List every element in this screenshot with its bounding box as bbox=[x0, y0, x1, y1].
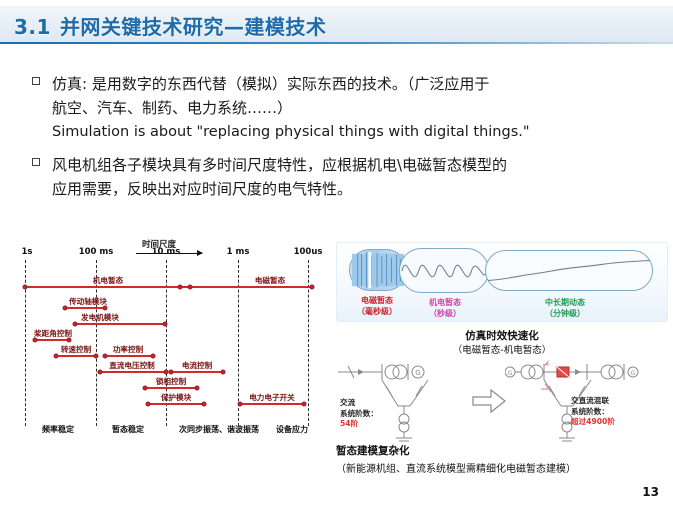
timescale-endpoint-dot bbox=[98, 370, 103, 375]
timescale-tick-label: 10 ms bbox=[152, 247, 181, 257]
pill-label-name: 机电暂态 bbox=[429, 298, 461, 307]
page-title: 3.1并网关键技术研究—建模技术 bbox=[14, 11, 326, 40]
timescale-tick-label: 1 ms bbox=[227, 247, 250, 257]
acdc-caption-line2: 系统阶数： bbox=[571, 407, 609, 416]
em-waveform-icon bbox=[350, 250, 406, 290]
bullet-line: 应用需要，反映出对应时间尺度的电气特性。 bbox=[52, 177, 650, 201]
ac-caption-line2: 系统阶数： bbox=[340, 409, 378, 418]
bullet-list: 仿真: 是用数字的东西代替（模拟）实际东西的技术。（广泛应用于 航空、汽车、制药… bbox=[30, 72, 650, 210]
timescale-band bbox=[171, 371, 223, 373]
timescale-endpoint-dot bbox=[23, 285, 28, 290]
timescale-tick-label: 100 ms bbox=[79, 247, 114, 257]
pill-label-name: 中长期动态 bbox=[545, 298, 585, 307]
acdc-caption-line1: 交直流混联 bbox=[571, 396, 609, 405]
ac-dc-system-order-caption: 交直流混联 系统阶数： 超过4900阶 bbox=[571, 396, 615, 428]
bullet-item: 风电机组各子模块具有多时间尺度特性，应根据机电\电磁暂态模型的 应用需要，反映出… bbox=[30, 153, 650, 201]
timescale-band-label: 锁相控制 bbox=[156, 376, 186, 387]
timescale-main-span bbox=[25, 286, 312, 288]
pill-label-electromagnetic: 电磁暂态 （毫秒级） bbox=[357, 295, 397, 317]
timescale-band bbox=[75, 323, 165, 325]
timescale-endpoint-dot bbox=[63, 306, 68, 311]
timescale-band bbox=[145, 387, 197, 389]
pill-label-electromechanical: 机电暂态 （秒级） bbox=[429, 297, 461, 319]
timescale-band-label: 桨距角控制 bbox=[34, 328, 72, 339]
figure-area: 时间尺度 1s 100 ms 10 ms 1 ms 100us 机电暂态 电磁暂… bbox=[0, 238, 673, 488]
ac-system-order-caption: 交流 系统阶数： 54阶 bbox=[340, 398, 378, 430]
page-number: 13 bbox=[642, 485, 659, 499]
square-bullet-icon bbox=[32, 158, 40, 166]
timescale-endpoint-dot bbox=[310, 285, 315, 290]
bullet-line: 风电机组各子模块具有多时间尺度特性，应根据机电\电磁暂态模型的 bbox=[52, 153, 650, 177]
timescale-endpoint-dot bbox=[103, 354, 108, 359]
timescale-footer-label: 次同步振荡、谐波振荡 bbox=[179, 424, 259, 435]
timescale-endpoint-dot bbox=[169, 370, 174, 375]
timescale-endpoint-dot bbox=[73, 322, 78, 327]
bullet-line: 仿真: 是用数字的东西代替（模拟）实际东西的技术。（广泛应用于 bbox=[52, 72, 650, 96]
timescale-endpoint-dot bbox=[302, 402, 307, 407]
timescale-endpoint-dot bbox=[178, 285, 183, 290]
pill-label-sub: （毫秒级） bbox=[357, 307, 397, 316]
timescale-endpoint-dot bbox=[188, 285, 193, 290]
circuit-title: 仿真时效快速化 bbox=[465, 328, 539, 343]
timescale-band-label: 功率控制 bbox=[113, 344, 143, 355]
page-title-number: 3.1 bbox=[14, 15, 51, 39]
page-title-text: 并网关键技术研究—建模技术 bbox=[60, 15, 327, 39]
svg-text:G: G bbox=[415, 369, 420, 377]
timescale-band-label: 电力电子开关 bbox=[249, 392, 295, 403]
timescale-band bbox=[65, 307, 105, 309]
timescale-tick-label: 1s bbox=[22, 247, 33, 257]
bullet-line: Simulation is about "replacing physical … bbox=[52, 120, 650, 144]
pill-label-sub: （分钟级） bbox=[545, 309, 585, 318]
timescale-band-label: 发电机模块 bbox=[81, 312, 119, 323]
slow-ramp-waveform-icon bbox=[486, 251, 652, 290]
timescale-band-label: 直流电压控制 bbox=[109, 360, 155, 371]
timescale-footer-label: 频率稳定 bbox=[42, 424, 74, 435]
timescale-band bbox=[35, 339, 69, 341]
timescale-chart: 时间尺度 1s 100 ms 10 ms 1 ms 100us 机电暂态 电磁暂… bbox=[8, 238, 328, 428]
bullet-line: 航空、汽车、制药、电力系统……） bbox=[52, 96, 650, 120]
timescale-footer-label: 设备应力 bbox=[276, 424, 308, 435]
timescale-endpoint-dot bbox=[195, 386, 200, 391]
timescale-band bbox=[148, 403, 204, 405]
timescale-top-annotation: 机电暂态 bbox=[93, 275, 123, 286]
timescale-endpoint-dot bbox=[151, 354, 156, 359]
svg-text:G: G bbox=[631, 370, 636, 377]
ac-caption-line1: 交流 bbox=[340, 398, 355, 407]
acdc-caption-value: 超过4900阶 bbox=[571, 417, 615, 426]
timescale-band bbox=[105, 355, 153, 357]
timescale-band-label: 传动轴模块 bbox=[69, 296, 107, 307]
slide-header-rule bbox=[0, 42, 673, 44]
timescale-endpoint-dot bbox=[143, 386, 148, 391]
timescale-endpoint-dot bbox=[202, 402, 207, 407]
svg-text:G: G bbox=[508, 370, 513, 377]
pill-label-name: 电磁暂态 bbox=[361, 296, 393, 305]
timescale-endpoint-dot bbox=[163, 322, 168, 327]
timescale-pill-panel: 电磁暂态 （毫秒级） 机电暂态 （秒级） 中长期动态 （分钟级） bbox=[336, 242, 668, 322]
timescale-endpoint-dot bbox=[146, 402, 151, 407]
timescale-band-label: 转速控制 bbox=[61, 344, 91, 355]
timescale-endpoint-dot bbox=[221, 370, 226, 375]
timescale-endpoint-dot bbox=[94, 354, 99, 359]
timescale-endpoint-dot bbox=[54, 354, 59, 359]
bullet-item: 仿真: 是用数字的东西代替（模拟）实际东西的技术。（广泛应用于 航空、汽车、制药… bbox=[30, 72, 650, 144]
pill-label-long-term: 中长期动态 （分钟级） bbox=[545, 297, 585, 319]
timescale-band-label: 保护模块 bbox=[161, 392, 191, 403]
timescale-endpoint-dot bbox=[238, 402, 243, 407]
ac-caption-value: 54阶 bbox=[340, 419, 358, 428]
square-bullet-icon bbox=[32, 77, 40, 85]
transform-arrow-icon bbox=[472, 388, 506, 414]
timescale-tick-label: 100us bbox=[294, 247, 323, 257]
timescale-band-label: 电流控制 bbox=[182, 360, 212, 371]
timescale-footer-label: 暂态稳定 bbox=[112, 424, 144, 435]
timescale-top-annotation: 电磁暂态 bbox=[255, 275, 285, 286]
timescale-band bbox=[56, 355, 96, 357]
circuit-subtitle: （电磁暂态-机电暂态） bbox=[453, 342, 551, 356]
timescale-band bbox=[100, 371, 166, 373]
timescale-band bbox=[240, 403, 304, 405]
pill-label-sub: （秒级） bbox=[429, 309, 461, 318]
long-term-dynamic-pill bbox=[485, 250, 653, 291]
electromechanical-pill bbox=[399, 248, 489, 293]
oscillation-waveform-icon bbox=[400, 249, 488, 292]
